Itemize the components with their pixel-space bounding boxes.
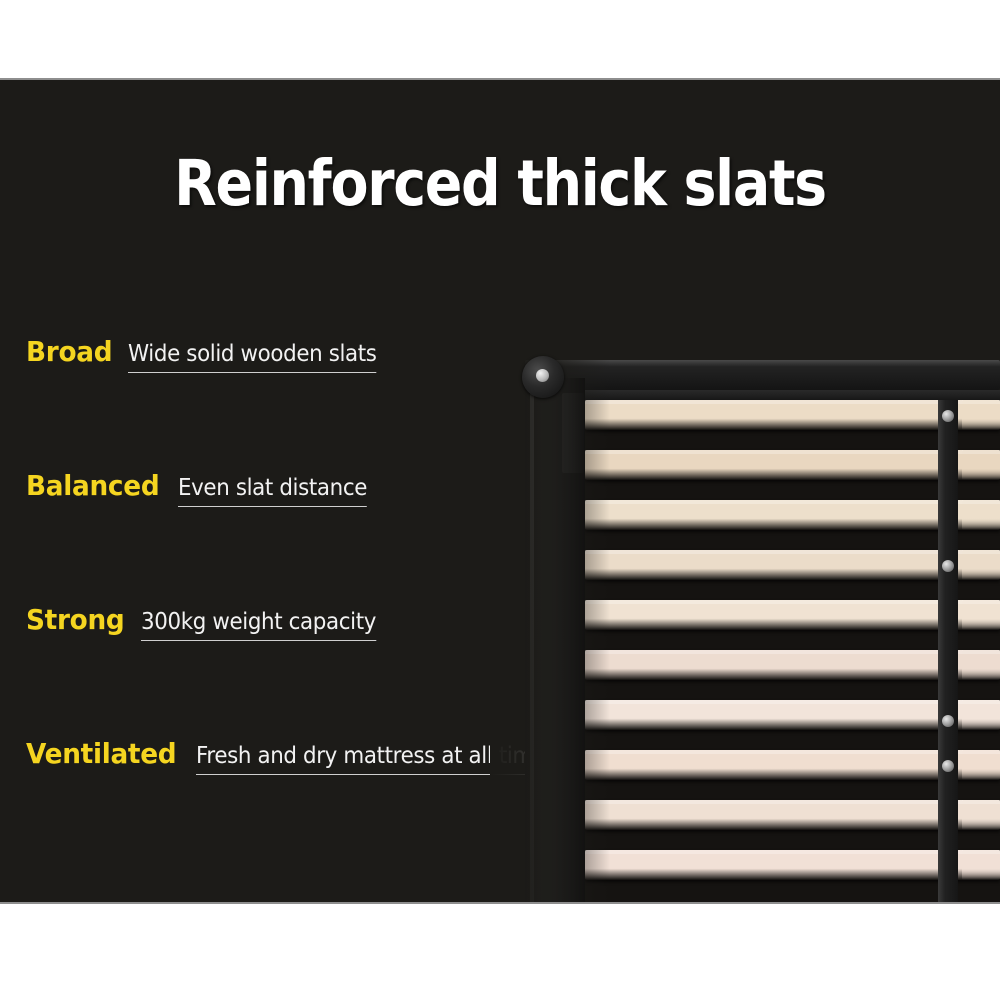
- feature-key: Strong: [26, 603, 124, 636]
- feature-row-balanced: Balanced Even slat distance: [26, 469, 556, 603]
- feature-key: Broad: [26, 335, 112, 368]
- feature-row-broad: Broad Wide solid wooden slats: [26, 335, 556, 469]
- wooden-slat-stub: [962, 800, 1000, 830]
- bed-frame-left-rail-highlight: [530, 378, 534, 902]
- center-support-beam: [938, 400, 958, 902]
- beam-screw-icon: [942, 560, 954, 572]
- feature-row-ventilated: Ventilated Fresh and dry mattress at all…: [26, 737, 556, 871]
- dark-panel: Reinforced thick slats Broad Wide solid …: [0, 80, 1000, 902]
- wooden-slat-stub: [962, 850, 1000, 880]
- bed-frame-top-rail: [525, 360, 1000, 390]
- page-title: Reinforced thick slats: [60, 152, 940, 215]
- corner-bracket: [562, 393, 584, 473]
- feature-value: Fresh and dry mattress at all times: [196, 743, 556, 775]
- beam-screw-icon: [942, 410, 954, 422]
- feature-list: Broad Wide solid wooden slats Balanced E…: [26, 335, 556, 871]
- feature-value: Even slat distance: [178, 475, 367, 507]
- beam-screw-icon: [942, 715, 954, 727]
- feature-value: 300kg weight capacity: [141, 609, 376, 641]
- wooden-slat-stub: [962, 750, 1000, 780]
- product-photo: [490, 260, 1000, 902]
- beam-screw-icon: [942, 760, 954, 772]
- wooden-slat-stub: [962, 450, 1000, 480]
- bed-frame-top-rail-lip: [550, 390, 1000, 400]
- wooden-slat-stub: [962, 500, 1000, 530]
- wooden-slat-stub: [962, 400, 1000, 430]
- wooden-slat-stub: [962, 550, 1000, 580]
- feature-row-strong: Strong 300kg weight capacity: [26, 603, 556, 737]
- wooden-slat-stub: [962, 700, 1000, 730]
- feature-key: Ventilated: [26, 737, 176, 770]
- corner-bolt-icon: [522, 356, 564, 398]
- product-feature-image: Reinforced thick slats Broad Wide solid …: [0, 0, 1000, 1000]
- panel-bottom-divider: [0, 902, 1000, 904]
- feature-value: Wide solid wooden slats: [128, 341, 377, 373]
- wooden-slat-stub: [962, 650, 1000, 680]
- wooden-slat-stub: [962, 600, 1000, 630]
- feature-key: Balanced: [26, 469, 159, 502]
